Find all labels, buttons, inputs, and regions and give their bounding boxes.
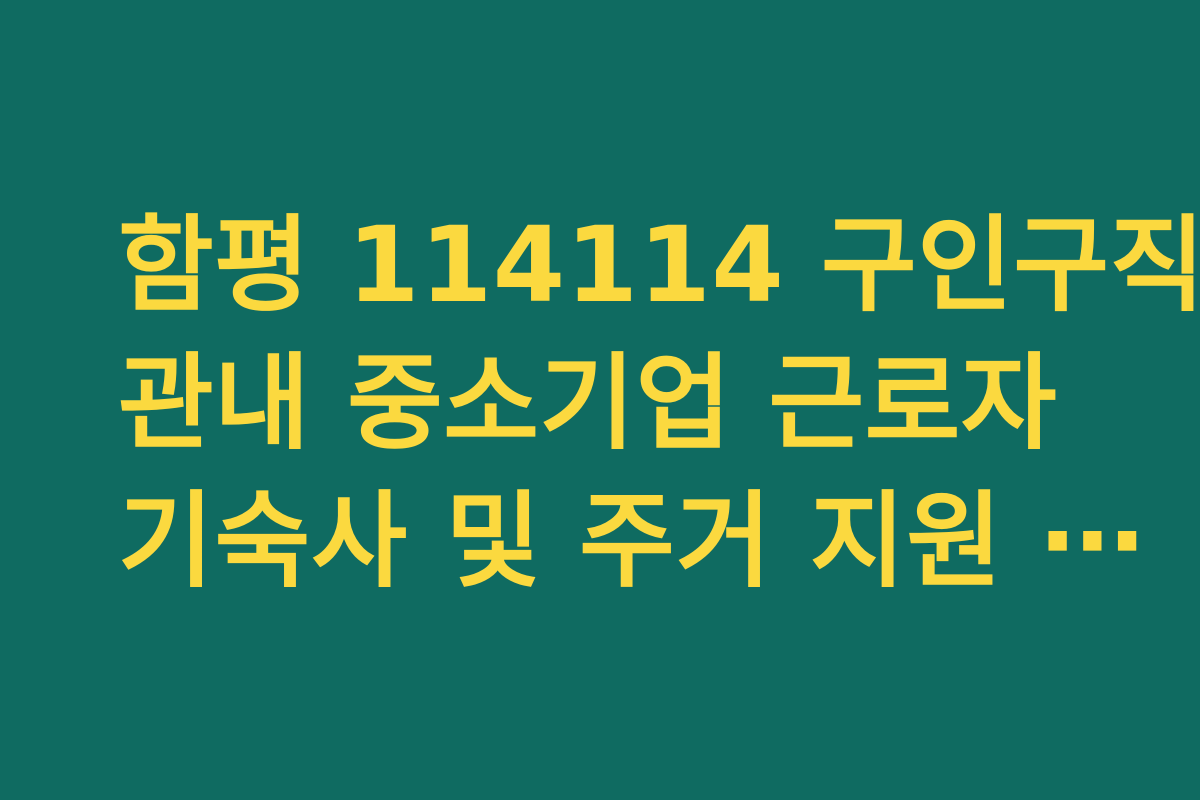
og-preview-card: 함평 114114 구인구직 관내 중소기업 근로자 기숙사 및 주거 지원 ⋯	[0, 0, 1200, 800]
headline-line-2: 관내 중소기업 근로자	[118, 334, 1098, 472]
headline-line-1: 함평 114114 구인구직	[118, 196, 1098, 334]
headline-block: 함평 114114 구인구직 관내 중소기업 근로자 기숙사 및 주거 지원 ⋯	[118, 196, 1098, 610]
headline-line-3: 기숙사 및 주거 지원 ⋯	[118, 472, 1098, 610]
